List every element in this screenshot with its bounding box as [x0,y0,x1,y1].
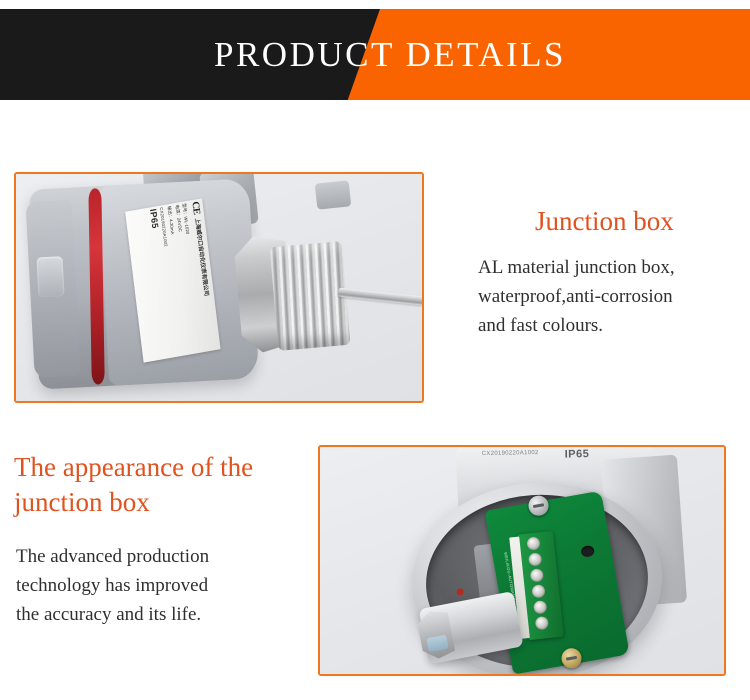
housing-end-cap [26,200,81,378]
photo-junction-box-exterior: CE 上海威尔口自动化仪表有限公司 型号：WL-1020 电源：24VDC 输出… [14,172,424,403]
terminal-screw [533,600,547,614]
barrel-serial: CX20190220A1002 [482,449,539,459]
terminal-block [517,531,564,640]
page-header-banner: PRODUCT DETAILS [0,9,750,100]
barrel-ip-rating: IP65 [565,448,590,460]
section-body-junction-box: AL material junction box, waterproof,ant… [478,254,750,341]
terminal-screw-group [526,536,549,630]
body-line: the accuracy and its life. [16,601,296,630]
photo-junction-box-interior: CX20190220A1002 IP65 WEILIKOU-AUTOMATION [318,445,726,676]
body-line: technology has improved [16,572,296,601]
terminal-screw [535,616,549,630]
sensor-housing: CE 上海威尔口自动化仪表有限公司 型号：WL-1020 电源：24VDC 输出… [29,178,257,389]
body-line: and fast colours. [478,312,750,341]
terminal-screw [530,568,544,582]
pcb-vent-hole [580,545,595,558]
internal-red-marker [456,588,463,595]
heading-line: The appearance of [14,452,213,482]
photo-background: CX20190220A1002 IP65 WEILIKOU-AUTOMATION [320,447,724,674]
body-line: The advanced production [16,543,296,572]
terminal-screw [526,536,540,550]
page-title: PRODUCT DETAILS [0,9,750,100]
pcb-mounting-screw-bottom [560,647,583,670]
terminal-screw [531,584,545,598]
terminal-screw [528,552,542,566]
housing-notch [36,256,64,297]
sensor-side-lug [315,180,352,209]
sensor-probe-rod [338,288,424,306]
ce-mark-icon: CE [188,201,202,216]
section-heading-appearance: The appearance of the junction box [14,450,314,519]
rating-label-content: CE 上海威尔口自动化仪表有限公司 型号：WL-1020 电源：24VDC 输出… [127,201,218,361]
body-line: AL material junction box, [478,254,750,283]
body-line: waterproof,anti-corrosion [478,283,750,312]
cable-gland-hex-nut [415,608,456,661]
pcb-mounting-screw-top [527,494,550,517]
section-body-appearance: The advanced production technology has i… [16,543,296,630]
photo-background: CE 上海威尔口自动化仪表有限公司 型号：WL-1020 电源：24VDC 输出… [16,174,422,401]
section-heading-junction-box: Junction box [535,204,674,239]
product-details-page: PRODUCT DETAILS CE 上海威尔口自动化仪表有限公司 [0,0,750,700]
